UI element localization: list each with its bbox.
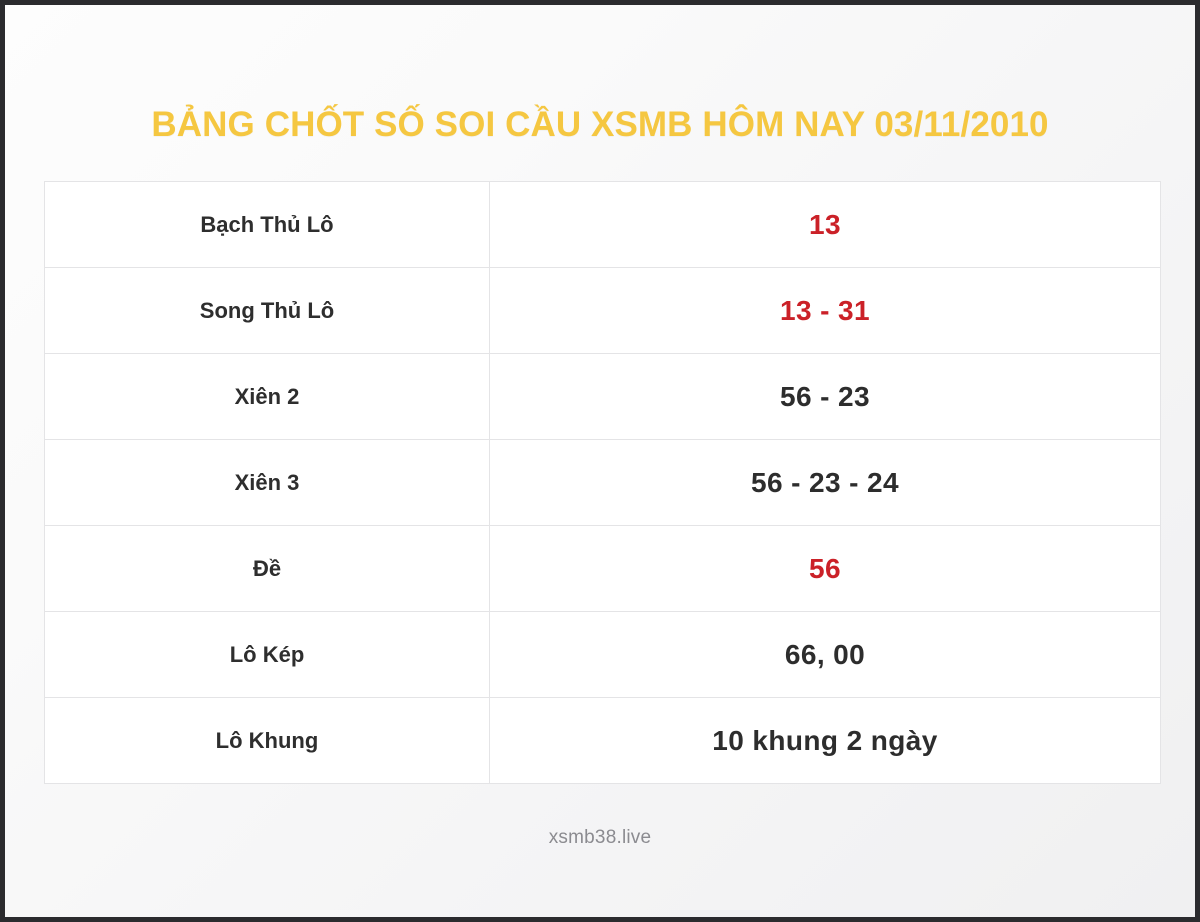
row-value: 56 - 23 - 24 (490, 440, 1161, 526)
row-value: 66, 00 (490, 612, 1161, 698)
row-label: Song Thủ Lô (45, 268, 490, 354)
page-title: BẢNG CHỐT SỐ SOI CẦU XSMB HÔM NAY 03/11/… (5, 107, 1195, 142)
prediction-table: Bạch Thủ Lô 13 Song Thủ Lô 13 - 31 Xiên … (44, 181, 1161, 784)
row-value: 56 - 23 (490, 354, 1161, 440)
row-label: Đề (45, 526, 490, 612)
prediction-table-body: Bạch Thủ Lô 13 Song Thủ Lô 13 - 31 Xiên … (45, 182, 1161, 784)
row-label: Xiên 2 (45, 354, 490, 440)
site-watermark: xsmb38.live (5, 827, 1195, 849)
table-row: Xiên 3 56 - 23 - 24 (45, 440, 1161, 526)
row-label: Lô Khung (45, 698, 490, 784)
table-row: Song Thủ Lô 13 - 31 (45, 268, 1161, 354)
row-value: 13 (490, 182, 1161, 268)
table-row: Lô Kép 66, 00 (45, 612, 1161, 698)
poster-card: BẢNG CHỐT SỐ SOI CẦU XSMB HÔM NAY 03/11/… (0, 0, 1200, 922)
row-value: 10 khung 2 ngày (490, 698, 1161, 784)
row-label: Xiên 3 (45, 440, 490, 526)
table-row: Đề 56 (45, 526, 1161, 612)
table-row: Xiên 2 56 - 23 (45, 354, 1161, 440)
row-label: Lô Kép (45, 612, 490, 698)
row-label: Bạch Thủ Lô (45, 182, 490, 268)
table-row: Bạch Thủ Lô 13 (45, 182, 1161, 268)
row-value: 56 (490, 526, 1161, 612)
row-value: 13 - 31 (490, 268, 1161, 354)
table-row: Lô Khung 10 khung 2 ngày (45, 698, 1161, 784)
